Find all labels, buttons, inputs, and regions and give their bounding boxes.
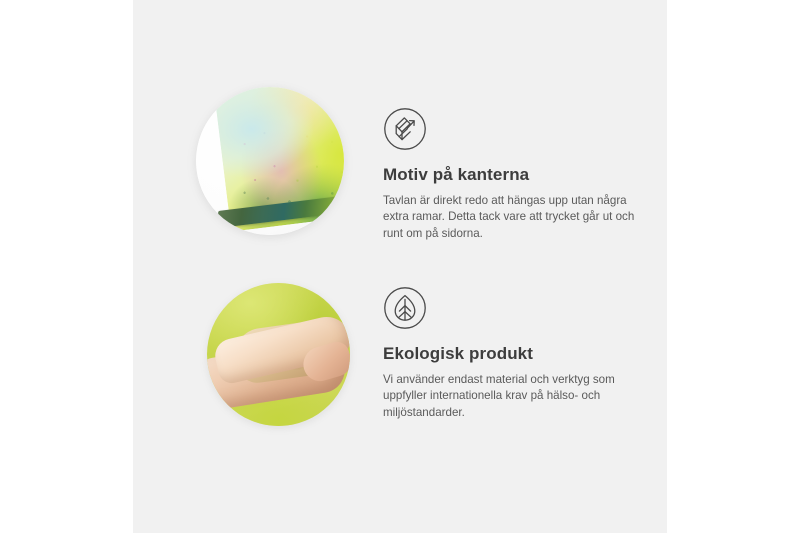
canvas-corner-photo bbox=[196, 87, 344, 235]
feature-text-eco-product: Ekologisk produkt Vi använder endast mat… bbox=[383, 286, 635, 421]
feature-title-edge-print: Motiv på kanterna bbox=[383, 164, 635, 186]
feature-body-eco-product: Vi använder endast material och verktyg … bbox=[383, 372, 635, 421]
promo-panel: Motiv på kanterna Tavlan är direkt redo … bbox=[0, 0, 800, 533]
feature-title-eco-product: Ekologisk produkt bbox=[383, 343, 635, 365]
feature-body-edge-print: Tavlan är direkt redo att hängas upp uta… bbox=[383, 193, 635, 242]
wood-chips-photo bbox=[207, 283, 350, 426]
wrapped-canvas-edge-icon bbox=[383, 107, 427, 151]
leaf-icon bbox=[383, 286, 427, 330]
feature-text-edge-print: Motiv på kanterna Tavlan är direkt redo … bbox=[383, 107, 635, 242]
content-background bbox=[133, 0, 667, 533]
